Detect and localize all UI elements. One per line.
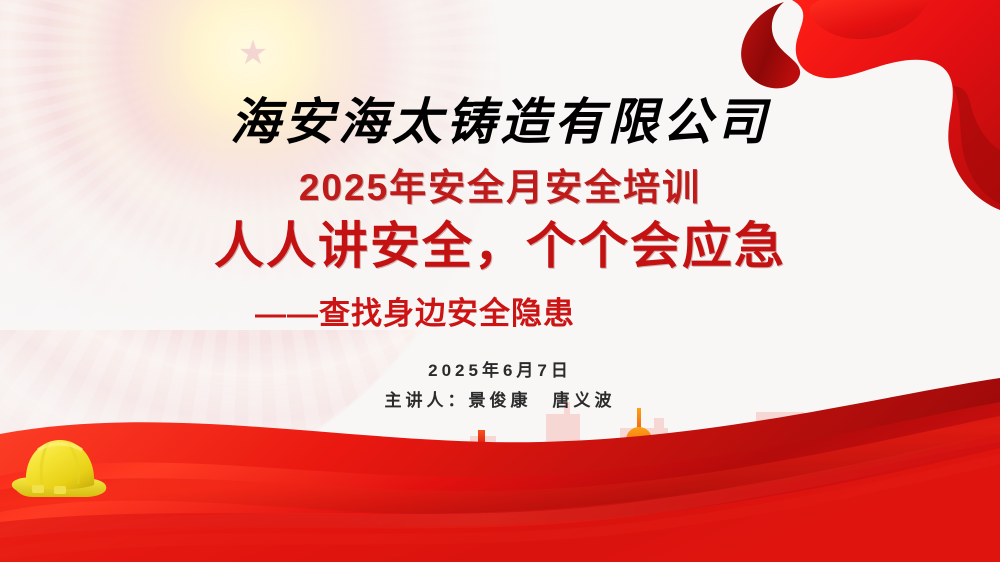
speaker-text: 主讲人：景俊康 唐义波 xyxy=(0,386,1000,411)
company-name: 海安海太铸造有限公司 xyxy=(0,82,1000,154)
tagline: ——查找身边安全隐患 xyxy=(0,288,1000,333)
subtitle-year: 2025年安全月安全培训 xyxy=(0,157,1000,211)
main-headline: 人人讲安全，个个会应急 xyxy=(0,206,1000,278)
cover-text-block: 海安海太铸造有限公司 2025年安全月安全培训 人人讲安全，个个会应急 ——查找… xyxy=(0,0,1000,562)
presentation-cover-slide: ★ xyxy=(0,0,1000,562)
date-text: 2025年6月7日 xyxy=(0,356,1000,381)
